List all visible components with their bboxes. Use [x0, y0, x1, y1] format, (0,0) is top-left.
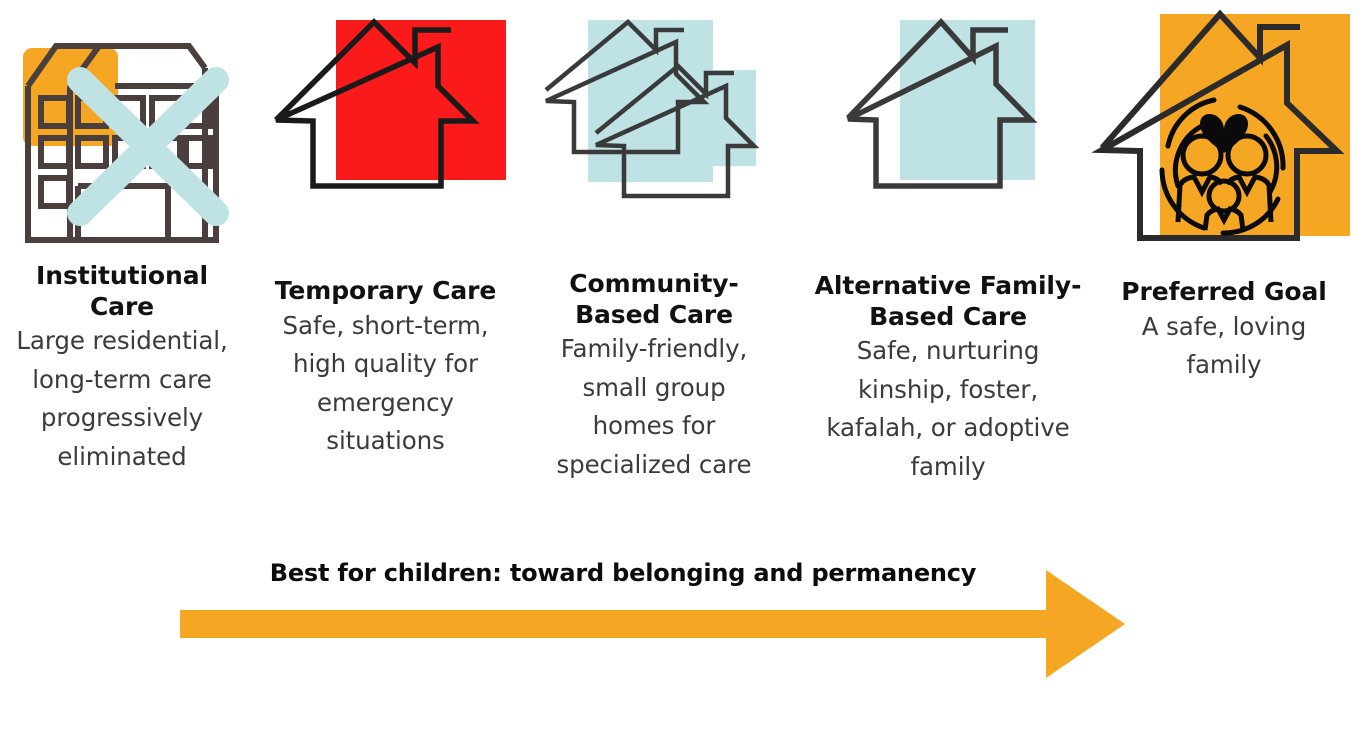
two-houses-blue-icon	[554, 0, 754, 253]
care-column-preferred-goal: Preferred Goal A safe, loving family	[1104, 0, 1344, 385]
column-title: Institutional Care	[8, 261, 236, 322]
column-title: Preferred Goal	[1104, 277, 1344, 308]
two-houses-blue-glyph	[536, 0, 776, 253]
house-red-glyph	[258, 0, 513, 258]
column-description: Safe, nurturing kinship, foster, kafalah…	[812, 332, 1084, 486]
right-arrow-icon	[170, 564, 1135, 684]
house-family-orange-icon	[1104, 0, 1344, 253]
infographic-root: Institutional Care Large residential, lo…	[0, 0, 1368, 746]
care-column-alternative: Alternative Family-Based Care Safe, nurt…	[812, 0, 1084, 486]
house-red-icon	[258, 0, 513, 258]
column-description: Safe, short-term, high quality for emerg…	[258, 307, 513, 461]
column-title: Community-Based Care	[554, 269, 754, 330]
column-title: Temporary Care	[258, 276, 513, 307]
institution-crossed-out-glyph	[8, 0, 236, 245]
institution-crossed-out-icon	[8, 0, 236, 245]
house-family-orange-glyph	[1092, 0, 1357, 253]
care-column-institutional: Institutional Care Large residential, lo…	[8, 0, 236, 476]
care-column-community: Community-Based Care Family-friendly, sm…	[554, 0, 754, 484]
house-blue-icon	[812, 0, 1084, 253]
column-title: Alternative Family-Based Care	[812, 271, 1084, 332]
house-blue-glyph	[838, 0, 1058, 253]
column-description: Family-friendly, small group homes for s…	[554, 330, 754, 484]
column-description: A safe, loving family	[1104, 308, 1344, 385]
care-column-temporary: Temporary Care Safe, short-term, high qu…	[258, 0, 513, 461]
progression-arrow-band: Best for children: toward belonging and …	[0, 556, 1368, 686]
cross-out-mark	[80, 80, 216, 213]
column-description: Large residential, long-term care progre…	[8, 322, 236, 476]
